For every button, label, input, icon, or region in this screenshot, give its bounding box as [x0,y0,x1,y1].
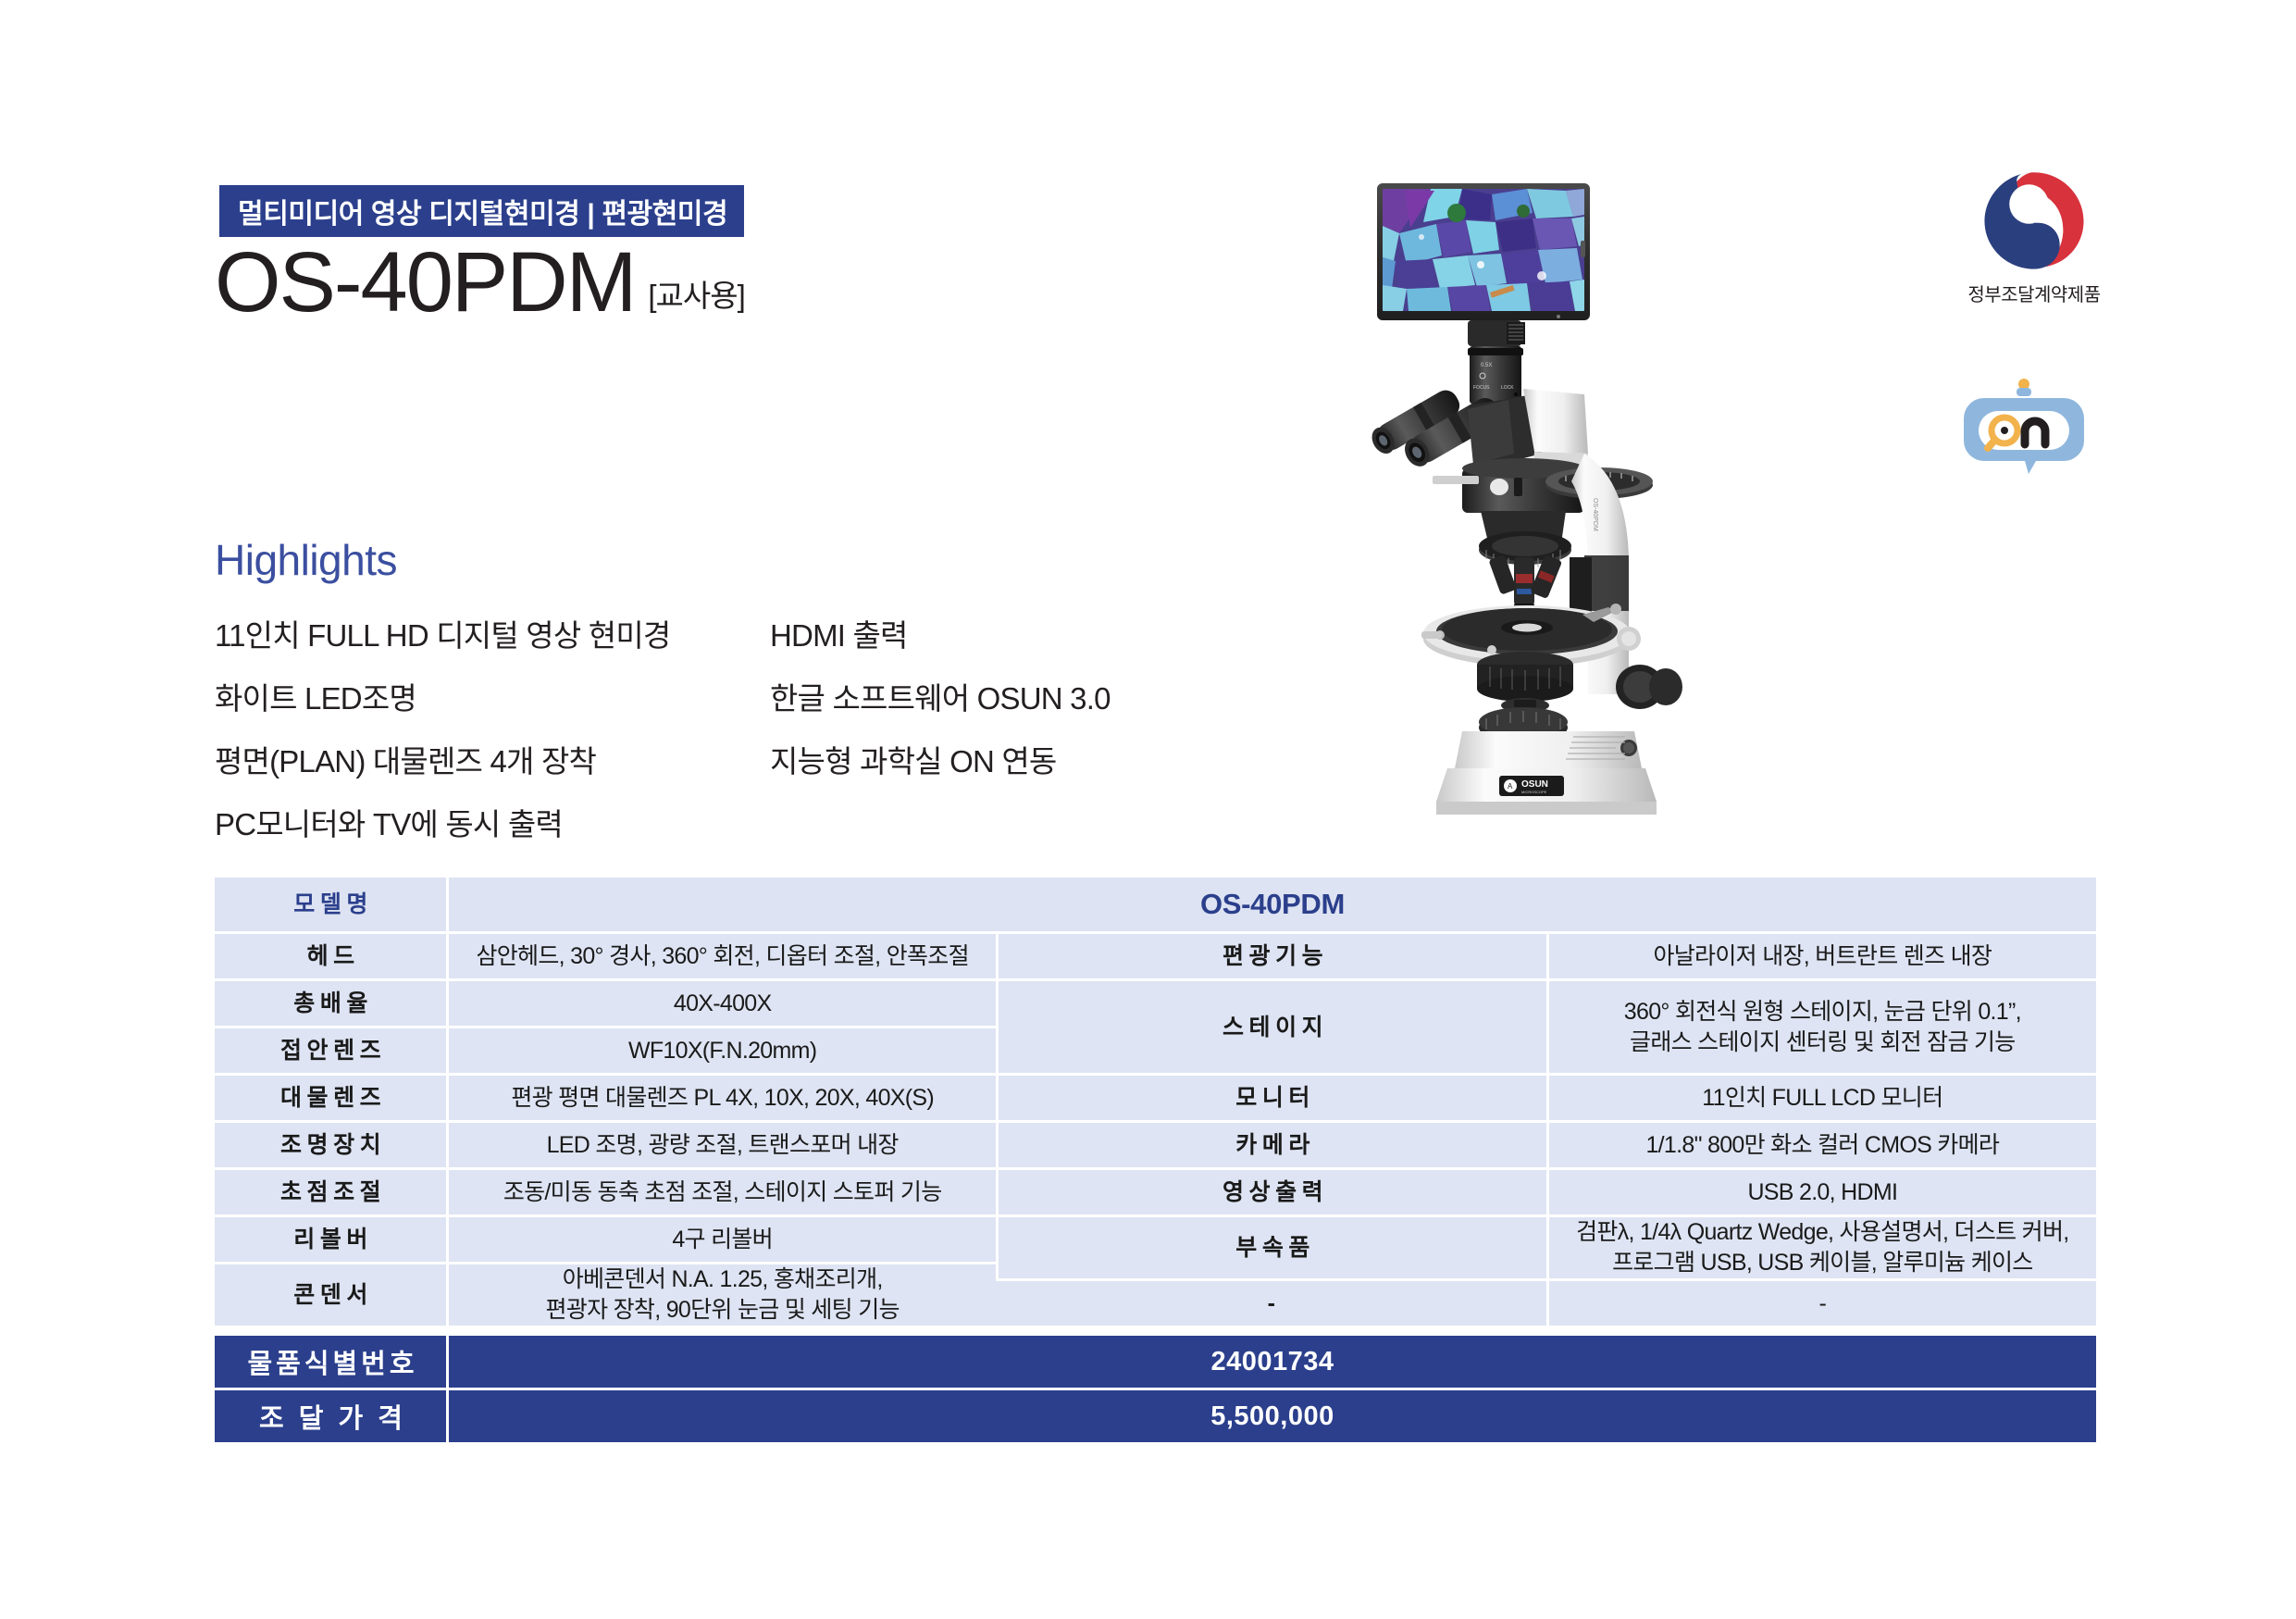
svg-text:OS-40PDM: OS-40PDM [1592,498,1598,531]
spec-label: 총 배 율 [215,981,446,1026]
spec-value: 1/1.8" 800만 화소 컬러 CMOS 카메라 [1546,1123,2096,1167]
table-row-price: 조 달 가 격 5,500,000 [215,1390,2096,1442]
highlight-item: 11인치 FULL HD 디지털 영상 현미경 [215,611,770,655]
spec-value: 360° 회전식 원형 스테이지, 눈금 단위 0.1”,글래스 스테이지 센터… [1546,981,2096,1073]
table-row: 초 점 조 절 조동/미동 동축 초점 조절, 스테이지 스토퍼 기능 영 상 … [215,1170,2096,1214]
spec-value-empty: - [1546,1281,2096,1326]
highlights-heading: Highlights [215,535,397,585]
highlights-list: 11인치 FULL HD 디지털 영상 현미경 HDMI 출력 화이트 LED조… [215,611,1196,863]
item-number-label: 물품식별번호 [215,1336,446,1388]
price-value: 5,500,000 [446,1390,2096,1442]
highlight-item: 한글 소프트웨어 OSUN 3.0 [770,674,1196,718]
spec-label: 헤 드 [215,934,446,978]
table-row: 리 볼 버 4구 리볼버 부 속 품 검판λ, 1/4λ Quartz Wedg… [215,1217,2096,1262]
spec-label: 부 속 품 [996,1217,1545,1278]
spec-value: 아베콘덴서 N.A. 1.25, 홍채조리개,편광자 장착, 90단위 눈금 및… [446,1264,996,1326]
spec-label-model: 모 델 명 [215,878,446,931]
spec-value: 삼안헤드, 30° 경사, 360° 회전, 디옵터 조절, 안폭조절 [446,934,996,978]
table-row: 대 물 렌 즈 편광 평면 대물렌즈 PL 4X, 10X, 20X, 40X(… [215,1076,2096,1120]
highlights-row: 평면(PLAN) 대물렌즈 4개 장착 지능형 과학실 ON 연동 [215,737,1196,800]
model-title-block: OS-40PDM [교사용] [215,243,745,323]
spec-label: 콘 덴 서 [215,1264,446,1326]
svg-text:LOCK: LOCK [1501,385,1514,391]
spec-label: 스 테 이 지 [996,981,1545,1073]
government-procurement-logo: 정부조달계약제품 [1951,165,2117,306]
spec-label: 대 물 렌 즈 [215,1076,446,1120]
spec-value: 편광 평면 대물렌즈 PL 4X, 10X, 20X, 40X(S) [446,1076,996,1120]
category-banner-label: 멀티미디어 영상 디지털현미경 | 편광현미경 [238,191,727,231]
spec-value-model: OS-40PDM [446,878,2096,931]
page-title: OS-40PDM [215,243,635,323]
spec-label: 조 명 장 치 [215,1123,446,1167]
spec-label: 영 상 출 력 [996,1170,1545,1214]
svg-text:FOCUS: FOCUS [1473,385,1490,391]
category-banner: 멀티미디어 영상 디지털현미경 | 편광현미경 [219,185,744,237]
science-lab-on-logo [1964,378,2084,481]
svg-text:A: A [1508,782,1513,791]
item-number-value: 24001734 [446,1336,2096,1388]
spec-value: 11인치 FULL LCD 모니터 [1546,1076,2096,1120]
taegeuk-icon [1964,165,2104,276]
price-label: 조 달 가 격 [215,1390,446,1442]
svg-text:MICROSCOPE: MICROSCOPE [1521,790,1547,794]
spec-value: 조동/미동 동축 초점 조절, 스테이지 스토퍼 기능 [446,1170,996,1214]
spec-label: 접 안 렌 즈 [215,1028,446,1073]
spec-value: 4구 리볼버 [446,1217,996,1262]
spec-value: USB 2.0, HDMI [1546,1170,2096,1214]
spec-value: LED 조명, 광량 조절, 트랜스포머 내장 [446,1123,996,1167]
highlight-item: HDMI 출력 [770,611,1196,655]
table-row-header: 모 델 명 OS-40PDM [215,878,2096,931]
spec-label: 초 점 조 절 [215,1170,446,1214]
spec-value: 아날라이저 내장, 버트란트 렌즈 내장 [1546,934,2096,978]
spec-value: 40X-400X [446,981,996,1026]
specification-table: 모 델 명 OS-40PDM 헤 드 삼안헤드, 30° 경사, 360° 회전… [215,875,2096,1328]
spec-value: WF10X(F.N.20mm) [446,1028,996,1073]
highlight-item: PC모니터와 TV에 동시 출력 [215,800,770,844]
highlight-item: 평면(PLAN) 대물렌즈 4개 장착 [215,737,770,781]
page-title-suffix: [교사용] [648,271,744,316]
table-row: 총 배 율 40X-400X 스 테 이 지 360° 회전식 원형 스테이지,… [215,981,2096,1026]
highlight-item: 지능형 과학실 ON 연동 [770,737,1196,781]
highlight-item: 화이트 LED조명 [215,674,770,718]
spec-label: 리 볼 버 [215,1217,446,1262]
spec-label-empty: - [996,1281,1545,1326]
spec-label: 편 광 기 능 [996,934,1545,978]
spec-value: 검판λ, 1/4λ Quartz Wedge, 사용설명서, 더스트 커버,프로… [1546,1217,2096,1278]
highlights-row: PC모니터와 TV에 동시 출력 [215,800,1196,863]
spec-label: 모 니 터 [996,1076,1545,1120]
svg-text:OSUN: OSUN [1521,779,1548,790]
highlights-row: 화이트 LED조명 한글 소프트웨어 OSUN 3.0 [215,674,1196,737]
table-row-item-number: 물품식별번호 24001734 [215,1336,2096,1388]
product-photo-microscope: 0.5X FOCUS LOCK [1351,176,1740,842]
summary-table: 물품식별번호 24001734 조 달 가 격 5,500,000 [215,1333,2096,1445]
highlights-row: 11인치 FULL HD 디지털 영상 현미경 HDMI 출력 [215,611,1196,674]
table-row: 헤 드 삼안헤드, 30° 경사, 360° 회전, 디옵터 조절, 안폭조절 … [215,934,2096,978]
spec-label: 카 메 라 [996,1123,1545,1167]
svg-text:0.5X: 0.5X [1481,363,1492,368]
table-row: 조 명 장 치 LED 조명, 광량 조절, 트랜스포머 내장 카 메 라 1/… [215,1123,2096,1167]
government-procurement-caption: 정부조달계약제품 [1951,280,2117,306]
